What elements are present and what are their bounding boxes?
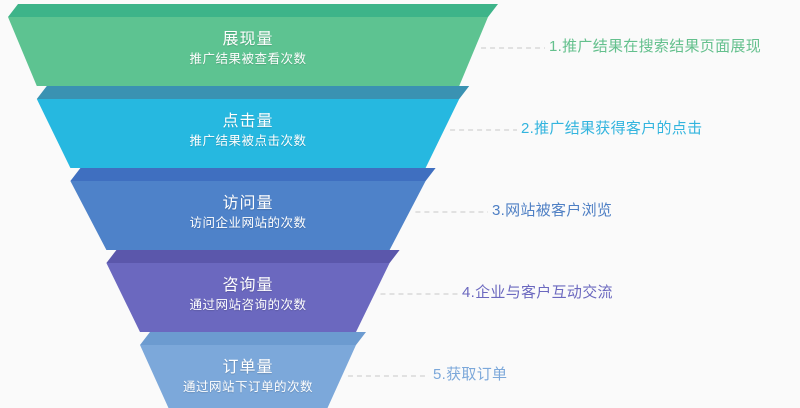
funnel-stage-3-top-face — [70, 168, 435, 181]
funnel-shapes — [0, 0, 800, 408]
funnel-stage-4[interactable] — [106, 250, 399, 332]
funnel-callout-3: 3.网站被客户浏览 — [492, 201, 612, 221]
funnel-diagram: 展现量推广结果被查看次数1.推广结果在搜索结果页面展现点击量推广结果被点击次数2… — [0, 0, 800, 408]
funnel-callout-4: 4.企业与客户互动交流 — [462, 283, 613, 303]
funnel-stage-4-body — [106, 263, 389, 332]
funnel-stage-3[interactable] — [70, 168, 435, 250]
funnel-stage-2[interactable] — [37, 86, 469, 168]
funnel-stage-3-body — [70, 181, 425, 250]
funnel-stage-1[interactable] — [8, 4, 498, 86]
funnel-callout-5: 5.获取订单 — [433, 365, 507, 385]
funnel-stage-2-top-face — [37, 86, 469, 99]
funnel-stage-5-body — [140, 345, 356, 408]
funnel-stage-4-top-face — [106, 250, 399, 263]
funnel-callout-1: 1.推广结果在搜索结果页面展现 — [549, 37, 761, 57]
funnel-stage-1-body — [8, 17, 488, 86]
funnel-callout-2: 2.推广结果获得客户的点击 — [521, 119, 702, 139]
funnel-stage-2-body — [37, 99, 459, 168]
funnel-stage-5-top-face — [140, 332, 366, 345]
funnel-stage-1-top-face — [8, 4, 498, 17]
funnel-stage-5[interactable] — [140, 332, 366, 408]
